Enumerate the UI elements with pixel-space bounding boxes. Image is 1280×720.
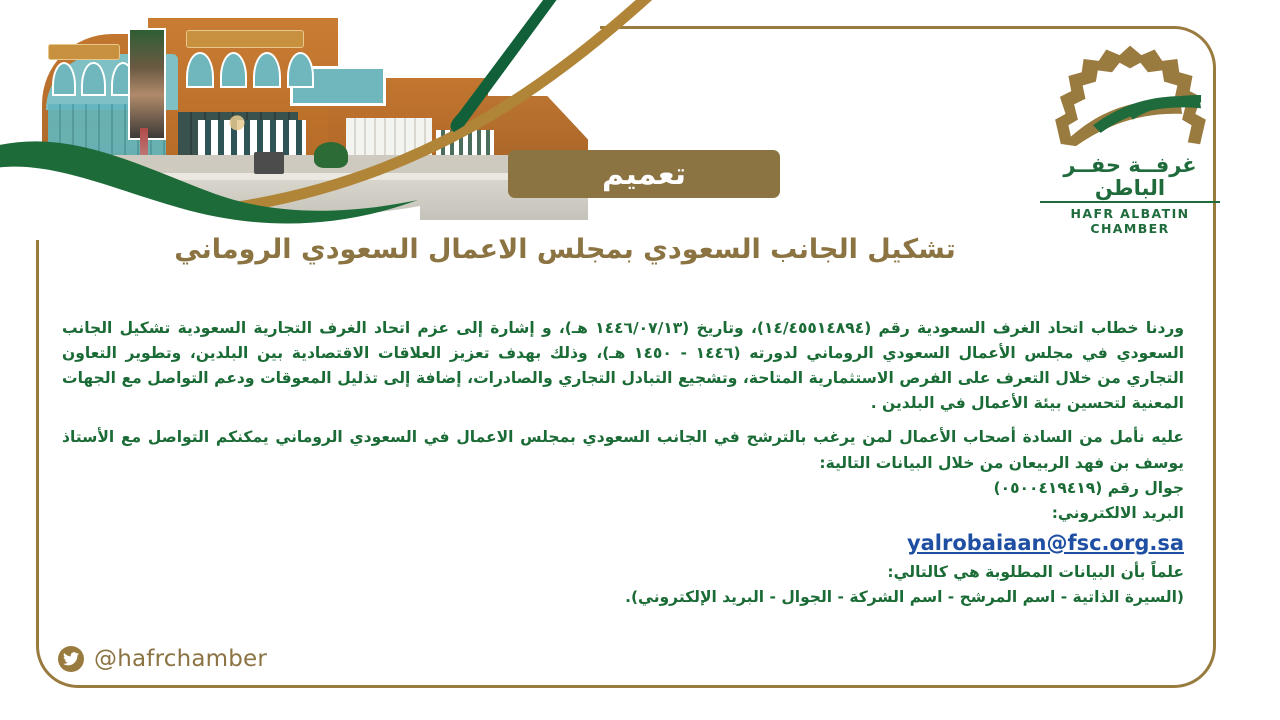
frame-mask-top-right <box>600 0 1020 24</box>
email-link[interactable]: yalrobaiaan@fsc.org.sa <box>907 531 1184 555</box>
logo-name-arabic: غرفــة حفــر الباطن <box>1040 154 1220 203</box>
header-artwork <box>0 0 660 245</box>
chamber-gear-dune-logo-icon <box>1040 38 1220 150</box>
required-data-items: (السيرة الذاتية - اسم المرشح - اسم الشرك… <box>62 585 1184 610</box>
green-wave-swoosh <box>0 120 420 240</box>
circular-poster: تعميم غرفــة حفــر الباطن HAFR ALBATIN C… <box>0 0 1280 720</box>
required-data-label: علماً بأن البيانات المطلوبة هي كالتالي: <box>62 560 1184 585</box>
ribbon-label: تعميم <box>602 157 686 192</box>
social-handle-text[interactable]: @hafrchamber <box>94 646 267 672</box>
mobile-number-line: جوال رقم (٠٥٠٠٤١٩٤١٩) <box>62 476 1184 501</box>
body-paragraph-2: عليه نأمل من السادة أصحاب الأعمال لمن ير… <box>62 425 1184 475</box>
chamber-logo: غرفــة حفــر الباطن HAFR ALBATIN CHAMBER <box>1040 38 1220 203</box>
twitter-bird-icon[interactable] <box>58 646 84 672</box>
email-address-line: yalrobaiaan@fsc.org.sa <box>62 526 1184 560</box>
social-handle-group[interactable]: @hafrchamber <box>58 646 267 672</box>
body-paragraph-1: وردنا خطاب اتحاد الغرف السعودية رقم (١٤/… <box>62 316 1184 416</box>
page-title: تشكيل الجانب السعودي بمجلس الاعمال السعو… <box>60 232 1070 268</box>
email-label: البريد الالكتروني: <box>62 501 1184 526</box>
circular-body: وردنا خطاب اتحاد الغرف السعودية رقم (١٤/… <box>62 316 1184 610</box>
circular-type-ribbon: تعميم <box>508 150 780 198</box>
